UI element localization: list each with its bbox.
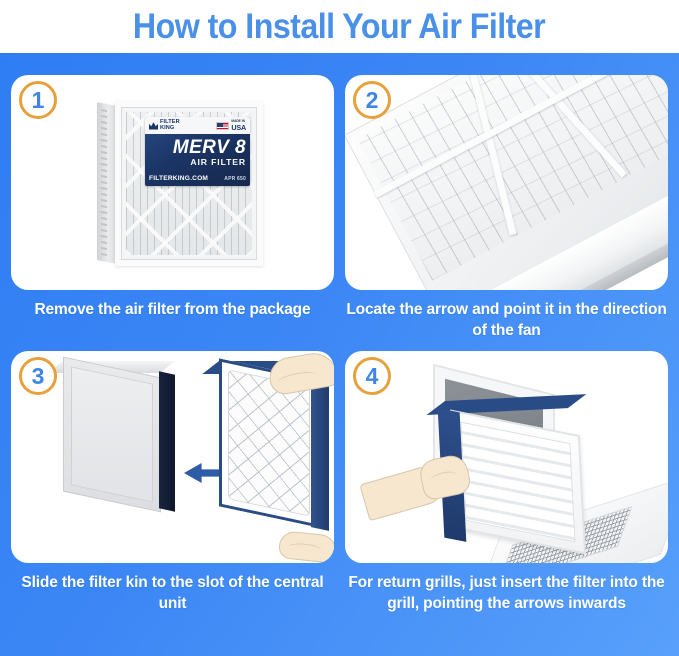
- brand-line-2: KING: [160, 126, 180, 132]
- usa-flag-icon: [216, 122, 229, 130]
- step-1-card: 1 FILTER: [11, 75, 334, 290]
- step-2-card: 2 Air Filter AIRFLOW: [345, 75, 668, 290]
- step-3-caption: Slide the filter kin to the slot of the …: [11, 573, 334, 614]
- step-2-caption: Locate the arrow and point it in the dir…: [345, 300, 668, 341]
- step-3: 3 Slide the filter kin: [11, 351, 334, 614]
- filter-label-header: FILTER KING MADE IN USA: [145, 117, 250, 134]
- crown-icon: [149, 122, 158, 130]
- central-unit-body: [63, 357, 161, 513]
- made-in-usa: MADE IN USA: [216, 120, 246, 130]
- step-1: 1 FILTER: [11, 75, 334, 321]
- step-4-badge: 4: [353, 357, 391, 395]
- central-unit-slot: [159, 371, 175, 511]
- filter-side-edge: [97, 102, 117, 264]
- filter-label-footer: FILTERKING.COM APR 650: [149, 175, 246, 182]
- step-1-caption: Remove the air filter from the package: [11, 300, 334, 321]
- filter-side-edge: [311, 379, 329, 531]
- brand-name: FILTER KING: [160, 120, 180, 132]
- step-4-card: 4: [345, 351, 668, 563]
- country-label: USA: [231, 124, 246, 131]
- grill-louvers: [461, 422, 576, 543]
- filter-front-face: FILTER KING MADE IN USA: [115, 101, 263, 266]
- step-1-artwork: FILTER KING MADE IN USA: [11, 75, 334, 290]
- step-3-artwork: [11, 351, 334, 563]
- infographic-page: How to Install Your Air Filter 1: [0, 0, 679, 656]
- made-in-usa-text: MADE IN USA: [231, 120, 246, 130]
- filter-king-logo: FILTER KING: [149, 120, 180, 132]
- steps-canvas: 1 FILTER: [0, 53, 679, 656]
- page-title: How to Install Your Air Filter: [133, 7, 545, 47]
- step-3-badge: 3: [19, 357, 57, 395]
- step-4: 4 For return grills,: [345, 351, 668, 614]
- air-filter-product-icon: FILTER KING MADE IN USA: [97, 101, 263, 266]
- step-2-artwork: Air Filter AIRFLOW: [345, 75, 668, 290]
- step-4-caption: For return grills, just insert the filte…: [345, 573, 668, 614]
- filter-label: FILTER KING MADE IN USA: [145, 117, 250, 186]
- central-unit-panel: [71, 366, 153, 502]
- step-2: 2 Air Filter AIRFLOW: [345, 75, 668, 341]
- filter-corner-closeup: Air Filter AIRFLOW: [345, 75, 668, 290]
- hand-lower: [278, 530, 334, 563]
- step-2-badge: 2: [353, 81, 391, 119]
- brand-website: FILTERKING.COM: [149, 175, 208, 182]
- merv-rating: MERV 8: [145, 138, 246, 157]
- step-3-card: 3: [11, 351, 334, 563]
- step-4-artwork: [345, 351, 668, 563]
- apr-rating: APR 650: [224, 176, 246, 182]
- filter-type-label: AIR FILTER: [190, 158, 246, 167]
- step-1-badge: 1: [19, 81, 57, 119]
- return-grill-door: [450, 410, 586, 555]
- title-bar: How to Install Your Air Filter: [0, 0, 679, 53]
